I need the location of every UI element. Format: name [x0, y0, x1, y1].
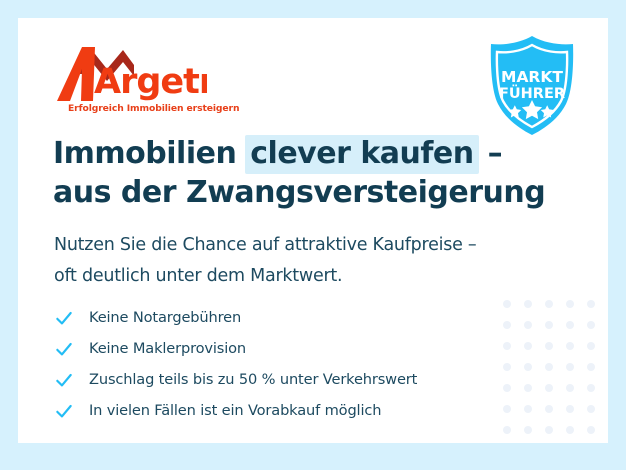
dot	[545, 384, 553, 392]
dot	[587, 321, 595, 329]
dot	[545, 300, 553, 308]
dot	[503, 321, 511, 329]
list-item: In vielen Fällen ist ein Vorabkauf mögli…	[54, 395, 417, 426]
shield-icon: MARKT FÜHRER	[484, 34, 580, 138]
check-icon	[54, 308, 74, 328]
dot	[503, 342, 511, 350]
list-item: Keine Notargebühren	[54, 302, 417, 333]
dot	[545, 342, 553, 350]
dot	[503, 405, 511, 413]
dot	[566, 300, 574, 308]
svg-text:Argetra: Argetra	[94, 62, 207, 101]
dot	[524, 363, 532, 371]
dot	[566, 342, 574, 350]
argetra-roof-logo-icon: Argetra	[55, 41, 207, 101]
headline-highlight: clever kaufen	[245, 135, 478, 174]
logo-tagline: Erfolgreich Immobilien ersteigern	[68, 103, 239, 114]
subheadline-line-2: oft deutlich unter dem Marktwert.	[54, 261, 476, 292]
dot	[524, 342, 532, 350]
dot-pattern-decoration	[503, 300, 608, 443]
dot	[545, 321, 553, 329]
subheadline: Nutzen Sie die Chance auf attraktive Kau…	[54, 230, 476, 292]
check-icon	[54, 339, 74, 359]
dot	[566, 405, 574, 413]
dot	[503, 300, 511, 308]
dot	[566, 321, 574, 329]
list-item-label: Zuschlag teils bis zu 50 % unter Verkehr…	[89, 371, 417, 388]
dot	[524, 405, 532, 413]
headline-line-1: Immobilien clever kaufen –	[53, 134, 545, 173]
dot	[524, 384, 532, 392]
list-item: Keine Maklerprovision	[54, 333, 417, 364]
market-leader-badge: MARKT FÜHRER	[484, 34, 580, 138]
dot	[503, 384, 511, 392]
headline-suffix: –	[478, 136, 502, 171]
badge-line-2: FÜHRER	[499, 84, 565, 102]
check-icon	[54, 370, 74, 390]
list-item-label: In vielen Fällen ist ein Vorabkauf mögli…	[89, 402, 381, 419]
benefit-list: Keine Notargebühren Keine Maklerprovisio…	[54, 302, 417, 426]
dot	[545, 426, 553, 434]
dot	[503, 426, 511, 434]
promo-banner: Argetra Erfolgreich Immobilien ersteiger…	[0, 0, 626, 470]
argetra-logo[interactable]: Argetra Erfolgreich Immobilien ersteiger…	[55, 41, 207, 101]
subheadline-line-1: Nutzen Sie die Chance auf attraktive Kau…	[54, 230, 476, 261]
dot	[545, 363, 553, 371]
badge-line-1: MARKT	[501, 68, 563, 86]
headline: Immobilien clever kaufen – aus der Zwang…	[53, 134, 545, 212]
dot	[524, 426, 532, 434]
headline-line-2: aus der Zwangsversteigerung	[53, 173, 545, 212]
list-item-label: Keine Notargebühren	[89, 309, 241, 326]
dot	[545, 405, 553, 413]
dot	[587, 300, 595, 308]
dot	[587, 342, 595, 350]
dot	[566, 426, 574, 434]
check-icon	[54, 401, 74, 421]
dot	[524, 321, 532, 329]
list-item: Zuschlag teils bis zu 50 % unter Verkehr…	[54, 364, 417, 395]
dot	[503, 363, 511, 371]
dot	[587, 405, 595, 413]
banner-card: Argetra Erfolgreich Immobilien ersteiger…	[18, 18, 608, 443]
headline-prefix: Immobilien	[53, 136, 246, 171]
dot	[587, 426, 595, 434]
dot	[587, 363, 595, 371]
dot	[587, 384, 595, 392]
list-item-label: Keine Maklerprovision	[89, 340, 246, 357]
dot	[524, 300, 532, 308]
dot	[566, 384, 574, 392]
dot	[566, 363, 574, 371]
